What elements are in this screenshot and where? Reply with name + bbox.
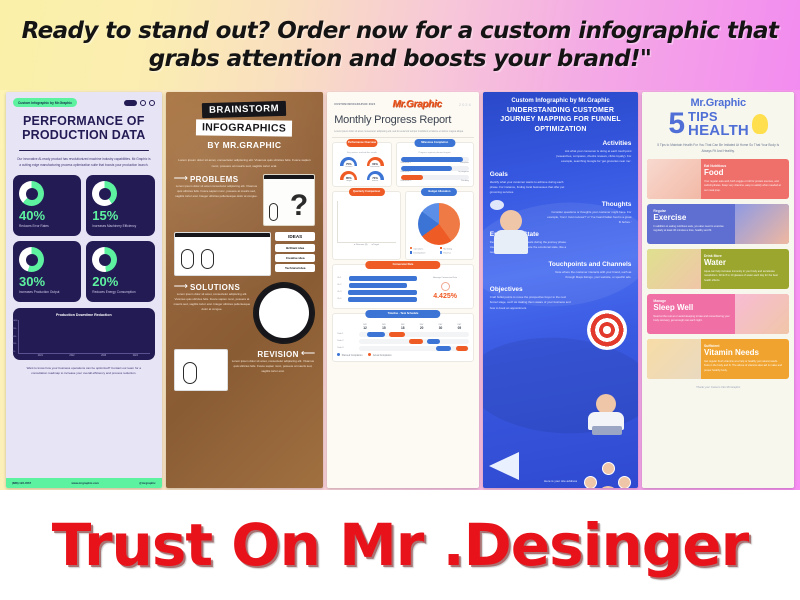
tip-title: Food: [704, 169, 783, 178]
panel1-body-text: Our innovative AI-ready product has revo…: [13, 157, 155, 168]
tip-title: Water: [704, 259, 783, 268]
gantt-date: DAY20: [420, 324, 424, 330]
stat-card: 30% Increases Production Output: [13, 241, 81, 302]
vitamin-illustration: [647, 339, 701, 379]
person-sketch-icon: [183, 362, 197, 384]
bar: [349, 283, 407, 288]
gantt-row: Task 2: [337, 339, 469, 344]
speech-bubble-icon: [490, 200, 504, 210]
panel3-divider: [332, 137, 474, 138]
card-note: Progress against planned targets: [401, 152, 469, 154]
panel1-footer-note: Want to know how your business operation…: [13, 366, 155, 478]
tip-title: Sleep Well: [653, 304, 732, 313]
panel2-intro-text: Lorem ipsum dolor sit amet, consectetur …: [177, 158, 313, 169]
panel2-title-line1: BRAINSTORM: [202, 101, 287, 118]
idea-chip: Technical idea: [275, 264, 315, 272]
tip-kicker: Sufficient: [704, 344, 783, 348]
panel3-title: Monthly Progress Report: [332, 114, 474, 126]
legend-item: Marketing: [440, 247, 469, 251]
section-heading: Touchpoints and Channels: [546, 261, 631, 268]
axis-tick-label: 2021: [26, 355, 55, 357]
bar: [348, 290, 417, 295]
highlight-label: Average Conversion Rate: [421, 277, 468, 280]
chart-y-axis: 100%75%50%25%0%: [12, 320, 18, 353]
highlight-value: 4.425%: [421, 293, 468, 300]
card-milestone-completion[interactable]: Milestone Completion Progress against pl…: [396, 142, 474, 187]
panel3-row-gauges: Performance Overview Key metrics tracked…: [332, 142, 474, 187]
panel4-kicker: Custom Infographic by Mr.Graphic: [490, 98, 632, 104]
donut-chart-icon: [19, 181, 44, 206]
gantt-task-label: Task 2: [337, 340, 355, 342]
tip-card-water[interactable]: Drink More Water Aqua can help increase …: [647, 249, 789, 289]
chart-x-axis: 2021202220232024: [18, 355, 150, 357]
panel4-title: UNDERSTANDING CUSTOMER JOURNEY MAPPING F…: [490, 106, 632, 134]
section-heading: Objectives: [490, 286, 572, 293]
panel1-bar-chart: Production Downtime Reduction 100%75%50%…: [13, 308, 155, 360]
chart-plot-area: 100%75%50%25%0%: [18, 320, 150, 354]
panel5-subtitle: 5 Tips to Maintain Health For You That C…: [653, 143, 783, 154]
laptop-icon: [592, 426, 622, 435]
section-heading: Thoughts: [546, 201, 631, 208]
person-laptop-illustration: [582, 392, 634, 442]
donut-chart-icon: [92, 181, 117, 206]
gauge-value: 85%: [340, 176, 357, 180]
card-caption-text: Timeline - Task Schedule: [365, 310, 440, 318]
gantt-task-label: Task 3: [337, 347, 355, 349]
card-caption-pill: Timeline - Task Schedule: [365, 310, 440, 318]
section-text: List what your consumer is doing at each…: [549, 149, 631, 164]
tip-kicker: Eat Nutritious: [704, 164, 783, 168]
gauge-widget: 60%Retention: [367, 157, 384, 168]
panel3-row-charts: Quarterly Comparison ● Revenue ($) ● Tar…: [332, 191, 474, 260]
gantt-track: [359, 332, 469, 337]
panel2-section-heading: IDEAS: [275, 232, 315, 241]
bar: [349, 276, 418, 281]
gauge-label: Target: [340, 180, 357, 182]
note-tape-icon: [264, 175, 314, 179]
gantt-date: DAY05: [458, 324, 462, 330]
panel1-topbar: Custom Infographic by Mr.Graphic: [13, 98, 155, 107]
panel-brainstorm-infographics[interactable]: BRAINSTORM INFOGRAPHICS BY MR.GRAPHIC Lo…: [166, 92, 324, 488]
tip-text: Get regular fresh vitamins at a help or …: [704, 360, 783, 373]
avatar-head-icon: [596, 394, 616, 414]
section-text: Consider questions or thoughts your cust…: [546, 210, 631, 225]
contact-social: @mrgraphic: [139, 481, 155, 485]
trend-circle-icon: [441, 282, 450, 291]
legend-item: Development: [410, 251, 439, 255]
gantt-row: Task 3: [337, 346, 469, 351]
sticky-note-question-mark: ?: [263, 174, 315, 226]
axis-tick-label: 2022: [58, 355, 87, 357]
contact-website: www.mrgraphic.com: [71, 481, 98, 485]
stat-value: 30%: [19, 275, 75, 288]
water-illustration: [647, 249, 701, 289]
lightbulb-icon: [752, 114, 768, 134]
tip-card-vitamin[interactable]: Sufficient Vitamin Needs Get regular fre…: [647, 339, 789, 379]
panel-monthly-progress-report[interactable]: CUSTOM INFOGRAPHIC 2024 Mr.Graphic 2024 …: [327, 92, 479, 488]
panel2-section-text: Lorem ipsum dolor sit amet consectetur a…: [174, 184, 260, 199]
arrow-left-icon: ⟵: [301, 349, 315, 359]
gantt-track: [359, 339, 469, 344]
section-activities: Activities List what your consumer is do…: [490, 140, 632, 164]
legend-item: Reserve: [440, 251, 469, 255]
avatar: [584, 476, 597, 488]
tip-text: Need at the rest at or avoid sleeping to…: [653, 315, 732, 324]
header-banner: Ready to stand out? Order now for a cust…: [0, 0, 800, 90]
tip-card-exercise[interactable]: Regular Exercise In addition to eating n…: [647, 204, 789, 244]
panel2-section-text: Lorem ipsum dolor sit amet, consectetur …: [231, 359, 316, 374]
megaphone-icon: [489, 452, 519, 480]
panel3-subtitle: Lorem ipsum dolor sit amet consectetur a…: [332, 130, 474, 133]
panel3-date: 2024: [459, 102, 472, 107]
contact-phone: (888) 123-4567: [12, 481, 31, 485]
axis-tick-label: Ch 4: [337, 298, 345, 300]
tip-card-sleep[interactable]: Manage Sleep Well Need at the rest at or…: [647, 294, 789, 334]
axis-tick-label: 2023: [89, 355, 118, 357]
tip-text: Aqua can help increase immunity in your …: [704, 270, 783, 283]
gantt-date: DAY30: [439, 324, 443, 330]
person-phone-illustration: [488, 200, 540, 256]
tip-card-food[interactable]: Eat Nutritious Food Your regular eats we…: [647, 159, 789, 199]
pie-chart-legend: OperationsMarketingDevelopmentReserve: [410, 247, 469, 255]
gantt-date: DAY15: [382, 324, 386, 330]
gauge-widget: 70%Reach: [367, 171, 384, 182]
tip-kicker: Manage: [653, 299, 732, 303]
exercise-illustration: [735, 204, 789, 244]
header-headline-line1: Ready to stand out? Order now for a cust…: [22, 17, 779, 45]
arrow-right-icon: ⟶: [174, 174, 188, 184]
sketch-lightbulb-illustration: [174, 349, 228, 391]
donut-chart-icon: [19, 247, 44, 272]
stat-label: Reduces Energy Consumption: [92, 290, 148, 295]
sketch-people-illustration: [174, 232, 272, 276]
tip-text: Your regular eats well, both veggie or f…: [704, 180, 783, 193]
note-tape-icon: [175, 233, 271, 237]
donut-chart-icon: [92, 247, 117, 272]
infographic-panel-strip: Custom Infographic by Mr.Graphic PERFORM…: [0, 90, 800, 490]
stat-value: 15%: [92, 209, 148, 222]
header-headline-line2: grabs attention and boosts your brand!": [149, 45, 652, 73]
avatar: [618, 476, 631, 488]
tip-kicker: Regular: [653, 209, 732, 213]
card-performance-overview[interactable]: Performance Overview Key metrics tracked…: [332, 142, 391, 187]
sleep-illustration: [735, 294, 789, 334]
panel-five-tips-health[interactable]: Mr.Graphic 5 TIPS HEALTH 5 Tips to Maint…: [642, 92, 794, 488]
card-caption-text: Budget Allocation: [421, 188, 457, 196]
section-touchpoints: Touchpoints and Channels Note where the …: [490, 261, 632, 280]
gantt-bar[interactable]: [367, 332, 385, 337]
target-illustration: [582, 306, 632, 354]
panel2-section-heading: PROBLEMS: [190, 175, 239, 184]
card-caption-text: Quarterly Comparison: [349, 188, 385, 196]
lightbulb-circle-badge: [253, 282, 315, 344]
milestone-label: Milestone 3: [401, 180, 412, 182]
gauge-widget: 75%Growth: [340, 157, 357, 168]
gauge-label: Retention: [367, 166, 384, 168]
idea-chip: Brilliant idea: [275, 244, 315, 252]
legend-item: Planned Completion: [337, 353, 362, 357]
milestone-label: Milestone 1: [401, 162, 412, 164]
axis-tick-label: Ch 1: [337, 277, 346, 279]
panel1-title: PERFORMANCE OF PRODUCTION DATA: [13, 114, 155, 143]
card-caption-pill: Quarterly Comparison: [349, 188, 385, 196]
bar-row: Ch 2: [337, 283, 417, 288]
pie-chart: [418, 203, 460, 245]
panel3-kicker: CUSTOM INFOGRAPHIC 2024: [334, 103, 375, 106]
gantt-bar[interactable]: [456, 346, 468, 351]
mr-graphic-logo: Mr.Graphic: [392, 99, 441, 110]
tip-title: Exercise: [653, 214, 732, 223]
bar-row: Ch 1: [337, 276, 417, 281]
avatar: [602, 462, 615, 475]
horizontal-bar-chart: Ch 1Ch 2Ch 3Ch 4: [337, 274, 417, 304]
panel2-title-line3: BY MR.GRAPHIC: [174, 140, 316, 150]
panel5-word-health: HEALTH: [688, 123, 749, 138]
person-sketch-icon: [201, 249, 214, 269]
bar-row: Ch 4: [337, 297, 417, 302]
section-heading: Goals: [490, 171, 569, 178]
arrow-right-icon: ⟶: [174, 282, 188, 292]
axis-tick-label: 0%: [12, 351, 18, 353]
card-caption-text: Milestone Completion: [414, 139, 455, 147]
gantt-bar[interactable]: [389, 332, 404, 337]
legend-item: Operations: [410, 247, 439, 251]
section-goals: Goals Identify what your customer wants …: [490, 171, 632, 195]
stat-label: Reduces Error Rates: [19, 224, 75, 229]
card-caption-pill: Performance Overview: [346, 139, 377, 147]
gantt-date: DAY18: [401, 324, 405, 330]
stat-card: 20% Reduces Energy Consumption: [86, 241, 154, 302]
gantt-track: [359, 346, 469, 351]
dartboard-icon: [587, 310, 627, 350]
card-task-timeline[interactable]: Timeline - Task Schedule DAY12DAY15DAY18…: [332, 313, 474, 362]
gauge-value: 70%: [367, 176, 384, 180]
gantt-rows: Task 1Task 2Task 3: [337, 332, 469, 351]
card-caption-text: Conversion Rate: [365, 261, 440, 269]
lightbulb-icon: [259, 288, 309, 338]
milestone-label: Milestone 2: [401, 171, 412, 173]
card-caption-pill: Conversion Rate: [365, 261, 440, 269]
footer-headline: Trust On Mr .Desinger: [52, 511, 749, 579]
bar: [348, 297, 418, 302]
gantt-row: Task 1: [337, 332, 469, 337]
card-conversion-rate[interactable]: Conversion Rate Ch 1Ch 2Ch 3Ch 4 Average…: [332, 264, 474, 309]
footer-banner: Trust On Mr .Desinger: [0, 490, 800, 600]
card-caption-pill: Milestone Completion: [414, 139, 455, 147]
page-dot-active-icon: [124, 100, 137, 106]
panel5-footer: Thank you! Custom Info Mr.Graphic: [647, 385, 789, 389]
stat-label: Increases Production Output: [19, 290, 75, 295]
avatar-body-icon: [494, 230, 528, 254]
card-quarterly-comparison[interactable]: Quarterly Comparison ● Revenue ($) ● Tar…: [332, 191, 401, 260]
panel1-stat-grid: 40% Reduces Error Rates 15% Increases Ma…: [13, 175, 155, 302]
avatar-head-icon: [598, 486, 618, 488]
chart-title: Production Downtime Reduction: [18, 313, 150, 317]
team-avatars-illustration: [580, 462, 634, 488]
axis-tick-label: 75%: [12, 328, 18, 330]
panel2-section-heading: SOLUTIONS: [190, 283, 240, 292]
avatar-head-icon: [500, 210, 522, 232]
gantt-bar[interactable]: [409, 339, 422, 344]
card-caption-text: Performance Overview: [346, 139, 377, 147]
panel-performance-production-data[interactable]: Custom Infographic by Mr.Graphic PERFORM…: [6, 92, 162, 488]
card-caption-pill: Budget Allocation: [421, 188, 457, 196]
infographic-promo-image: Ready to stand out? Order now for a cust…: [0, 0, 800, 600]
tip-kicker: Drink More: [704, 254, 783, 258]
section-heading: Activities: [549, 140, 631, 147]
panel2-section-heading: REVISION: [257, 350, 298, 359]
chart-legend-item: ● Target: [371, 244, 379, 246]
stacked-bar-chart: [337, 201, 396, 243]
panel1-page-dots: [124, 100, 155, 106]
question-mark-icon: ?: [290, 191, 308, 221]
tip-title: Vitamin Needs: [704, 349, 783, 358]
section-text: Identify what your customer wants to ach…: [490, 180, 569, 195]
chart-legend-item: ● Revenue ($): [354, 244, 367, 246]
panel1-divider: [19, 150, 149, 152]
axis-tick-label: 25%: [12, 343, 18, 345]
panel1-contact-bar: (888) 123-4567 www.mrgraphic.com @mrgrap…: [6, 478, 162, 488]
section-text: Note where the customer interacts with y…: [546, 270, 631, 280]
axis-tick-label: 50%: [12, 336, 18, 338]
stat-card: 40% Reduces Error Rates: [13, 175, 81, 236]
stat-card: 15% Increases Machinery Efficiency: [86, 175, 154, 236]
panel-customer-journey-mapping[interactable]: Custom Infographic by Mr.Graphic UNDERST…: [483, 92, 639, 488]
person-sketch-icon: [269, 203, 278, 221]
axis-tick-label: 100%: [12, 320, 18, 322]
idea-chip: Creative idea: [275, 254, 315, 262]
gantt-task-label: Task 1: [337, 333, 355, 335]
gantt-date-header: DAY12DAY15DAY18DAY20DAY30DAY05: [356, 324, 469, 330]
stat-value: 20%: [92, 275, 148, 288]
food-illustration: [647, 159, 701, 199]
panel2-section-text: Lorem ipsum dolor sit amet, consectetur …: [174, 292, 251, 312]
panel2-title-line2: INFOGRAPHICS: [196, 119, 292, 136]
tip-text: In addition to eating nutritious eats, y…: [653, 225, 732, 234]
person-sketch-icon: [181, 249, 194, 269]
gauge-value: 75%: [340, 162, 357, 166]
stat-label: Increases Machinery Efficiency: [92, 224, 148, 229]
bar-row: Ch 3: [337, 290, 417, 295]
page-dot-icon: [140, 100, 146, 106]
axis-tick-label: 2024: [121, 355, 150, 357]
gauge-widget: 85%Target: [340, 171, 357, 182]
gantt-legend: Planned Completion Actual Completion: [337, 353, 469, 357]
section-text: Craft bullet points to move the prospect…: [490, 295, 572, 310]
stat-value: 40%: [19, 209, 75, 222]
megaphone-illustration: [489, 444, 541, 488]
panel3-header: CUSTOM INFOGRAPHIC 2024 Mr.Graphic 2024: [332, 97, 474, 110]
legend-item: Actual Completion: [368, 353, 391, 357]
panel1-badge: Custom Infographic by Mr.Graphic: [13, 98, 77, 107]
gantt-date: DAY12: [363, 324, 367, 330]
gauge-label: Reach: [367, 180, 384, 182]
panel5-hero: 5 TIPS HEALTH: [647, 110, 789, 138]
page-dot-icon: [149, 100, 155, 106]
gauge-label: Growth: [340, 166, 357, 168]
gantt-bar[interactable]: [427, 339, 440, 344]
axis-tick-label: Ch 3: [337, 291, 346, 293]
card-budget-allocation[interactable]: Budget Allocation OperationsMarketingDev…: [405, 191, 474, 260]
card-note: Key metrics tracked this month: [337, 152, 386, 154]
panel5-big-number: 5: [668, 111, 685, 137]
axis-tick-label: Ch 2: [337, 284, 347, 286]
gauge-value: 60%: [367, 162, 384, 166]
gantt-bar[interactable]: [436, 346, 451, 351]
